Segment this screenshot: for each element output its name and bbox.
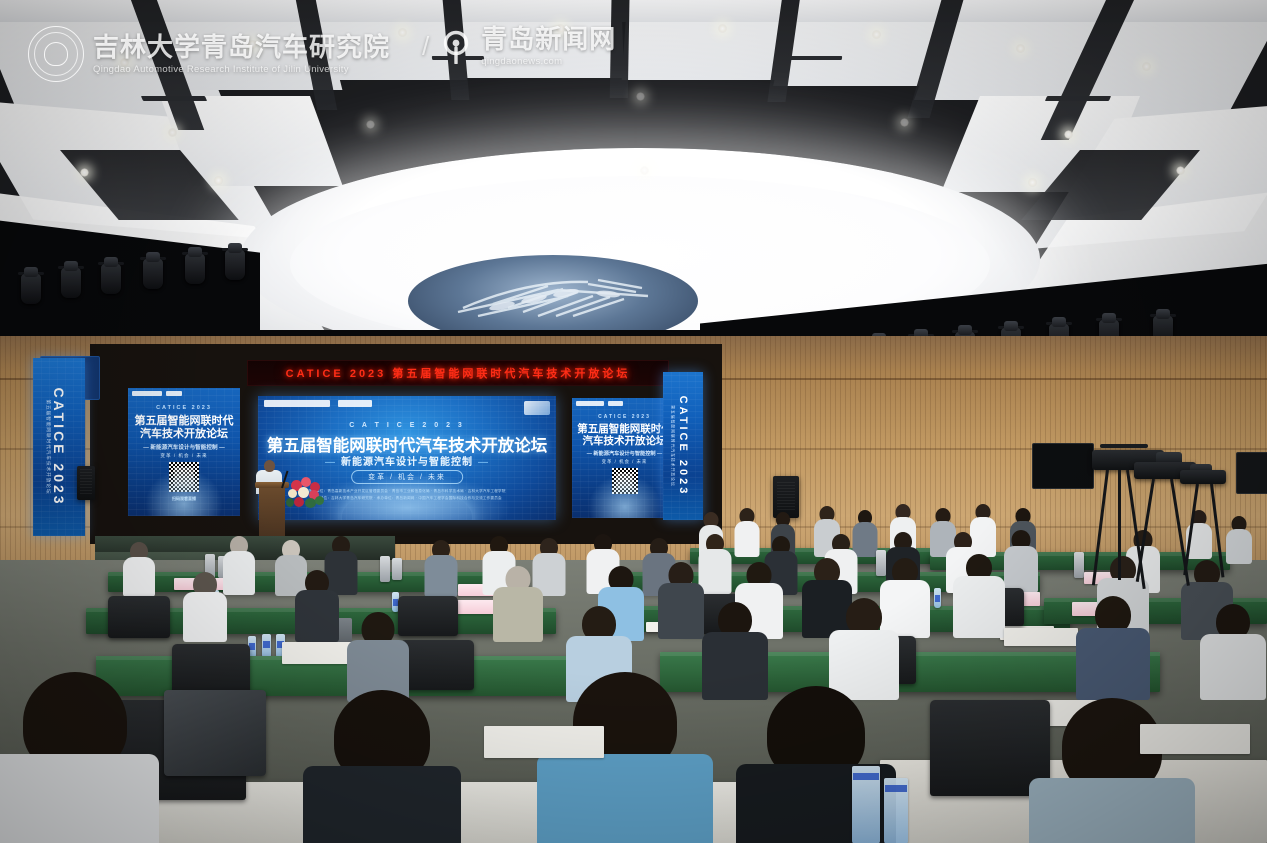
totem-left-sub: 第五届智能网联时代汽车技术开放论坛 (45, 399, 51, 494)
conference-hall-photo: CATICE 2023 第五届智能网联时代汽车技术开放论坛 C A T I C … (0, 0, 1267, 843)
poster-right-pill: 变革 / 机会 / 未来 (602, 459, 648, 465)
totem-screen-right: CATICE 2023 第五届智能网联时代汽车技术开放论坛 (663, 372, 703, 520)
thermos-flask (876, 550, 886, 576)
poster-left-logo-2 (166, 391, 182, 396)
water-bottle (934, 588, 941, 608)
poster-left-eyebrow: CATICE 2023 (128, 405, 240, 411)
chair (108, 596, 170, 638)
poster-screen-left: CATICE 2023 第五届智能网联时代 汽车技术开放论坛 — 新能源汽车设计… (128, 388, 240, 516)
poster-right-logo-1 (576, 401, 604, 406)
totem-screen-left: CATICE 2023 第五届智能网联时代汽车技术开放论坛 (33, 358, 85, 536)
camcorder (1180, 470, 1226, 484)
chair (400, 640, 474, 690)
poster-right-title-1: 第五届智能网联时代 (572, 424, 677, 436)
poster-left-title-2: 汽车技术开放论坛 (128, 428, 240, 440)
thermos-flask (1074, 552, 1084, 578)
screen-logo-row (264, 400, 372, 407)
poster-left-pill: 变革 / 机会 / 未来 (160, 453, 207, 459)
wall-monitor-secondary (1236, 452, 1267, 494)
foreground-person-right (1050, 698, 1174, 843)
dash-right: — (473, 457, 494, 468)
thermos-flask (380, 556, 390, 582)
foreground-person-left (10, 672, 140, 843)
watermark-en-text: Qingdao Automotive Research Institute of… (93, 64, 390, 75)
totem-left-text: CATICE 2023 (51, 387, 67, 506)
jilin-institute-logo-icon (264, 400, 330, 407)
floral-arrangement (285, 476, 327, 510)
water-bottle (884, 778, 908, 843)
foreground-person-mid (322, 690, 442, 843)
qingdaonews-logo-icon (338, 400, 372, 407)
watermark-jilin-institute: 吉林大学青岛汽车研究院 Qingdao Automotive Research … (28, 26, 390, 82)
wall-monitor (1032, 443, 1094, 489)
watermark-cn-text: 青岛新闻网 (481, 26, 616, 52)
totem-right-text: CATICE 2023 (677, 396, 689, 497)
notepad (1004, 628, 1078, 646)
poster-right-subtitle: — 新能源汽车设计与智能控制 — (572, 450, 677, 457)
thermos-flask (392, 558, 402, 580)
dash-left: — (320, 457, 341, 468)
water-bottle (262, 634, 271, 658)
pa-speaker-left (77, 466, 95, 500)
shotgun-microphone (1100, 444, 1148, 448)
led-headline-text: CATICE 2023 第五届智能网联时代汽车技术开放论坛 (286, 365, 631, 381)
water-bottle (852, 766, 880, 843)
totem-right-sub: 第五届智能网联时代汽车技术开放论坛 (670, 405, 675, 487)
watermark-cn-text: 吉林大学青岛汽车研究院 (93, 34, 390, 60)
screen-eyebrow: C A T I C E 2 0 2 3 (258, 422, 556, 429)
poster-screen-right: CATICE 2023 第五届智能网联时代 汽车技术开放论坛 — 新能源汽车设计… (572, 398, 677, 518)
poster-right-eyebrow: CATICE 2023 (572, 414, 677, 420)
watermark-separator: / (422, 31, 429, 62)
poster-left-subtitle: — 新能源汽车设计与智能控制 — (128, 443, 240, 451)
chair (398, 596, 458, 636)
led-headline-banner: CATICE 2023 第五届智能网联时代汽车技术开放论坛 (247, 360, 669, 386)
screen-subtitle: —新能源汽车设计与智能控制— (258, 453, 556, 468)
poster-left-title-1: 第五届智能网联时代 (128, 415, 240, 427)
wheat-ear-emblem-icon (438, 266, 668, 336)
poster-left-logo-1 (132, 391, 162, 396)
backpack (164, 690, 266, 776)
forum-emblem-icon (524, 401, 550, 415)
poster-right-logo-2 (608, 401, 623, 406)
screen-subtitle-text: 新能源汽车设计与智能控制 (341, 457, 473, 468)
watermark-qingdao-news: / 青岛新闻网 qingdaonews.com (418, 26, 616, 67)
notepad (1140, 724, 1250, 754)
notepad (484, 726, 604, 758)
qingdaonews-q-icon (442, 30, 472, 64)
poster-right-title-2: 汽车技术开放论坛 (572, 436, 677, 448)
wooden-podium (259, 486, 285, 536)
watermark-en-text: qingdaonews.com (481, 56, 616, 67)
university-seal-icon (28, 26, 84, 82)
